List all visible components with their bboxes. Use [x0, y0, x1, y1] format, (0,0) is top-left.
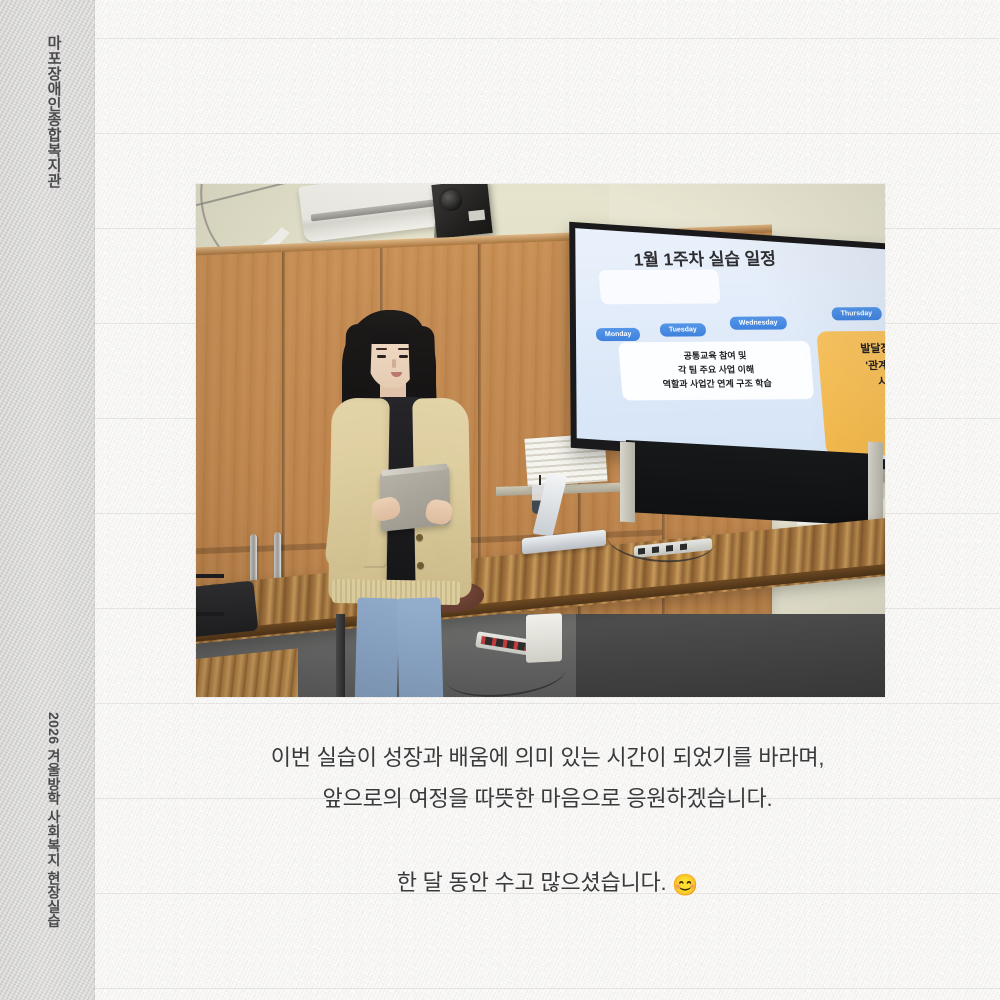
presentation-display: 1월 1주차 실습 일정 Monday Tuesday Wednesday Th… [569, 222, 885, 471]
eyebrow-left [376, 348, 387, 350]
presenter-person [314, 302, 494, 697]
display-leg [868, 442, 883, 523]
rule-line [95, 988, 1000, 989]
cardigan-button [417, 562, 424, 569]
organization-name-vertical: 마포장애인종합복지관 [43, 35, 64, 188]
display-recess [626, 440, 876, 526]
slide-title: 1월 1주차 실습 일정 [633, 244, 777, 270]
slide-note-line: 역할과 사업간 연계 구조 학습 [627, 377, 808, 392]
chair-armrest [196, 574, 224, 616]
caption-closing-line: 한 달 동안 수고 많으셨습니다. 😊 [95, 862, 1000, 906]
slide-day-pill-thursday: Thursday [831, 307, 881, 320]
slide-orange-line: 발달장애 [825, 341, 885, 358]
caption-paragraph-1: 이번 실습이 성장과 배움에 의미 있는 시간이 되었기를 바라며, 앞으로의 … [95, 737, 1000, 819]
photo-content: 1월 1주차 실습 일정 Monday Tuesday Wednesday Th… [196, 184, 885, 697]
program-name-vertical: 2026 겨울방학 사회복지 현장실습 [44, 712, 64, 928]
slide-note-line: 각 팀 주요 사업 이해 [626, 363, 807, 378]
slide-header-bar [598, 269, 720, 304]
eye-left [377, 355, 386, 358]
caption-line-2: 앞으로의 여정을 따뜻한 마음으로 응원하겠습니다. [95, 778, 1000, 819]
rule-line [95, 133, 1000, 134]
smiling-face-emoji: 😊 [672, 874, 698, 897]
caption-closing-text: 한 달 동안 수고 많으셨습니다. [397, 870, 667, 895]
presentation-photo: 1월 1주차 실습 일정 Monday Tuesday Wednesday Th… [196, 184, 885, 697]
cardigan-button [416, 534, 423, 541]
display-leg [620, 442, 635, 523]
jeans-right-leg [397, 597, 444, 697]
slide-orange-card: 발달장애 '관계형 시 [816, 331, 885, 456]
slide-day-pill-wednesday: Wednesday [729, 316, 787, 329]
eyebrow-right [398, 348, 409, 350]
caption-paragraph-2: 한 달 동안 수고 많으셨습니다. 😊 [95, 862, 1000, 906]
rule-line [95, 703, 1000, 704]
slide-day-pill-monday: Monday [596, 328, 641, 341]
nose [392, 359, 396, 368]
wall-speaker [431, 184, 492, 239]
slide-note-card: 공통교육 참여 및 각 팀 주요 사업 이해 역할과 사업간 연계 구조 학습 [618, 341, 814, 400]
sidebar-band: 마포장애인종합복지관 2026 겨울방학 사회복지 현장실습 [0, 0, 95, 1000]
rule-line [95, 38, 1000, 39]
caption-line-1: 이번 실습이 성장과 배움에 의미 있는 시간이 되었기를 바라며, [95, 737, 1000, 778]
floor-right [576, 614, 885, 697]
floor-box [526, 613, 562, 663]
slide-orange-line: '관계형 [827, 357, 885, 374]
slide-day-pill-tuesday: Tuesday [659, 323, 706, 336]
display-screen: 1월 1주차 실습 일정 Monday Tuesday Wednesday Th… [575, 228, 885, 460]
poster-card: 마포장애인종합복지관 2026 겨울방학 사회복지 현장실습 [0, 0, 1000, 1000]
eye-right [399, 355, 408, 358]
jeans-left-leg [355, 597, 400, 697]
slide-note-line: 공통교육 참여 및 [625, 349, 806, 364]
slide-orange-line: 시 [828, 374, 885, 391]
